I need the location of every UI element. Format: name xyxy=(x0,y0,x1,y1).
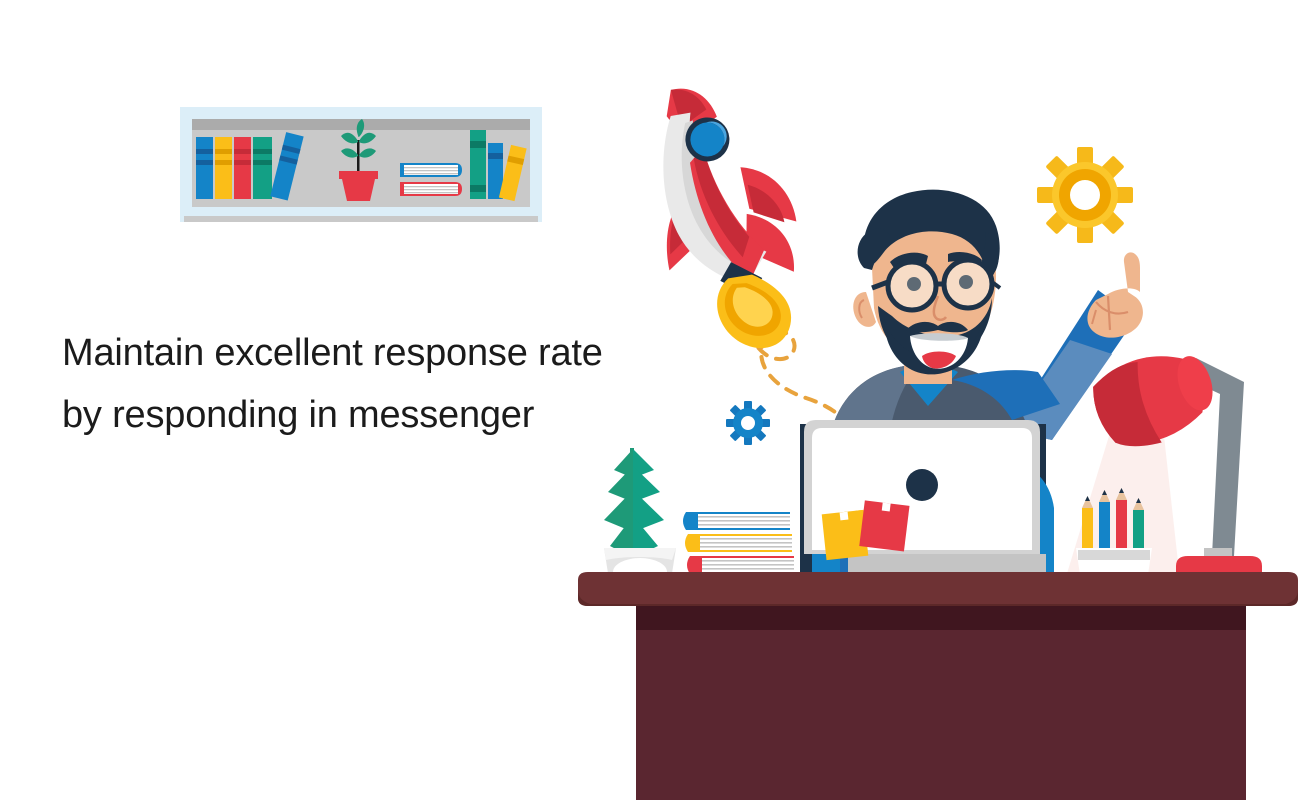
sticky-note-red xyxy=(859,500,909,551)
pencil-cup xyxy=(1076,488,1152,594)
book-stack xyxy=(683,512,794,574)
illustration-canvas: Maintain excellent response rate by resp… xyxy=(0,0,1300,800)
laptop xyxy=(784,420,1062,584)
bookshelf-group xyxy=(180,107,542,222)
page-headline: Maintain excellent response rate by resp… xyxy=(62,322,702,446)
rocket-trail xyxy=(747,288,878,575)
desk-lamp xyxy=(1065,340,1262,584)
gear-large-yellow xyxy=(1017,127,1153,263)
pencils xyxy=(1082,488,1144,558)
sticky-note-yellow xyxy=(822,510,869,560)
bookshelf-stacked-books xyxy=(400,163,462,196)
rocket xyxy=(656,81,805,354)
bookshelf-tilted-book-blue xyxy=(270,132,303,200)
desk xyxy=(578,572,1298,800)
glasses-icon xyxy=(872,260,1000,310)
character xyxy=(826,190,1143,560)
character-raised-arm xyxy=(1008,252,1143,440)
bookshelf-books-left xyxy=(196,137,272,199)
bookshelf-plant xyxy=(339,119,378,201)
gear-small-blue xyxy=(717,392,779,454)
desk-plant xyxy=(604,448,676,586)
bookshelf-books-right xyxy=(470,130,527,201)
